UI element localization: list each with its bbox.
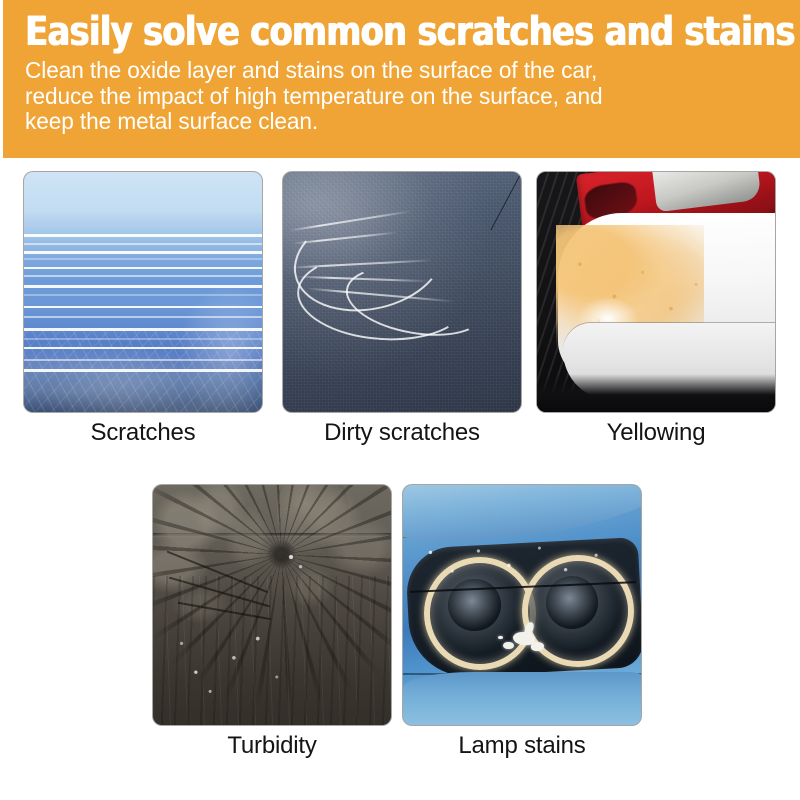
infographic-page: Easily solve common scratches and stains… [0,0,800,800]
caption-dirty-scratches: Dirty scratches [283,419,521,447]
thumbnail-dirty-scratches [283,172,521,412]
bird-dropping-stain [498,619,550,657]
gallery-item-yellowing: Yellowing [537,172,775,412]
caption-turbidity: Turbidity [153,732,391,760]
page-title: Easily solve common scratches and stains [25,10,733,54]
thumbnail-lamp-stains [403,485,641,725]
scratches-photo [24,172,262,412]
gallery-item-dirty-scratches: Dirty scratches [283,172,521,412]
turbidity-photo [153,485,391,725]
dirty-scratches-photo [283,172,521,412]
thumbnail-scratches [24,172,262,412]
thumbnail-yellowing [537,172,775,412]
page-subtitle: Clean the oxide layer and stains on the … [25,58,775,135]
yellowing-photo [537,172,775,412]
gallery-item-lamp-stains: Lamp stains [403,485,641,725]
subtitle-line-2: reduce the impact of high temperature on… [25,84,775,110]
header-banner: Easily solve common scratches and stains… [3,0,800,158]
caption-lamp-stains: Lamp stains [403,732,641,760]
gallery-item-scratches: Scratches [24,172,262,412]
caption-scratches: Scratches [24,419,262,447]
lamp-stains-photo [403,485,641,725]
caption-yellowing: Yellowing [537,419,775,447]
thumbnail-turbidity [153,485,391,725]
subtitle-line-1: Clean the oxide layer and stains on the … [25,58,775,84]
gallery-item-turbidity: Turbidity [153,485,391,725]
subtitle-line-3: keep the metal surface clean. [25,109,775,135]
